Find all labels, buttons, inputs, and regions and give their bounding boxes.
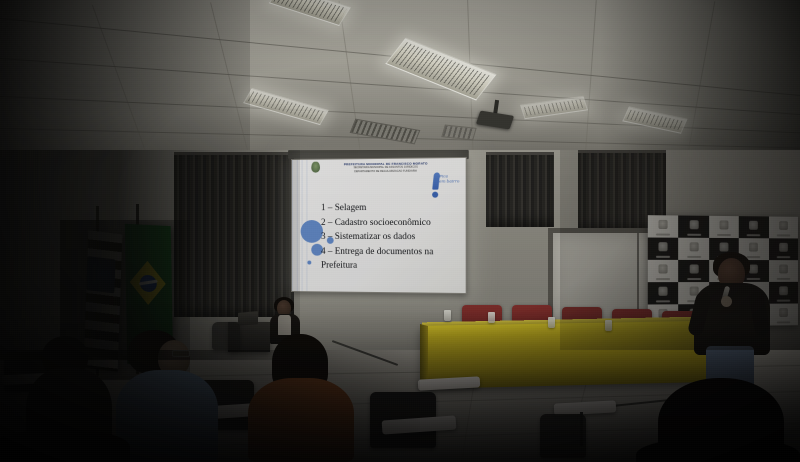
tablet-arm-chair: [540, 414, 586, 458]
fluorescent-light-fixture: [385, 38, 496, 101]
floor-shadow-overlay: [0, 350, 420, 462]
head-table-edge: [420, 324, 428, 384]
slide-bullet: 2 – Cadastro socioeconômico: [321, 215, 460, 230]
slide-bullet-list: 1 – Selagem 2 – Cadastro socioeconômico …: [321, 201, 460, 275]
photograph-scene: PREFEITURA MUNICIPAL DE FRANCISCO MORATO…: [0, 0, 800, 462]
drinking-glass: [488, 312, 495, 323]
presentation-slide: PREFEITURA MUNICIPAL DE FRANCISCO MORATO…: [292, 158, 466, 293]
audience-torso: [636, 438, 800, 462]
decorative-circle-large: [301, 220, 323, 243]
right-shadow-overlay: [560, 150, 800, 350]
ceiling-air-vent: [350, 119, 421, 145]
drinking-glass: [444, 310, 451, 321]
fluorescent-light-fixture: [269, 0, 351, 26]
decorative-circle-tiny: [307, 261, 311, 265]
left-shadow-overlay: [0, 150, 300, 360]
projection-screen: PREFEITURA MUNICIPAL DE FRANCISCO MORATO…: [291, 157, 467, 294]
slide-bullet: 1 – Selagem: [321, 201, 460, 216]
fluorescent-light-fixture: [243, 88, 329, 125]
ceiling-shadow-right: [600, 0, 800, 165]
logo-text: Fica em bairro: [439, 174, 463, 184]
fluorescent-light-fixture: [520, 96, 588, 119]
slide-bullet: 3 – Sistematizar os dados: [321, 230, 460, 245]
ceiling-projector: [476, 111, 514, 130]
vertical-blinds: [486, 152, 554, 227]
ceiling-shadow-left: [0, 0, 250, 165]
slide-bullet: 4 – Entrega de documentos na Prefeitura: [321, 245, 460, 275]
suspended-tile-ceiling: [0, 0, 800, 165]
logo-line-2: em bairro: [439, 179, 463, 184]
drinking-glass: [548, 317, 555, 328]
